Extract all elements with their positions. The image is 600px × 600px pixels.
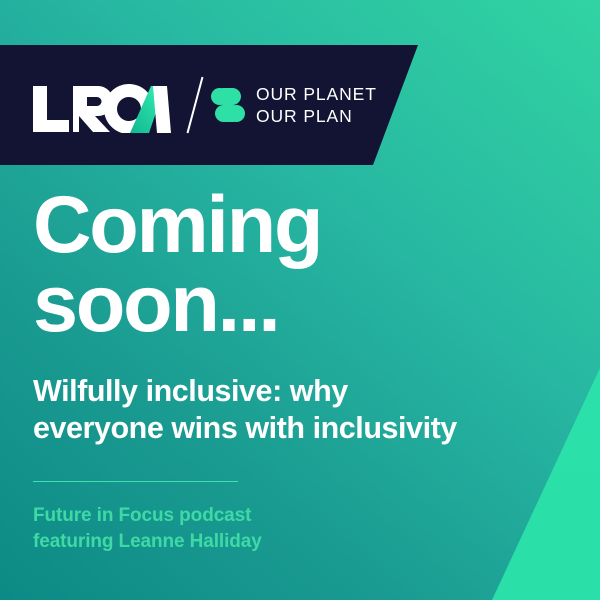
podcast-credit: Future in Focus podcast featuring Leanne… xyxy=(33,503,560,554)
lrqa-logo[interactable] xyxy=(31,77,171,133)
divider-rule xyxy=(33,481,238,483)
opop-line-2: OUR PLAN xyxy=(256,105,377,127)
logo-banner: OUR PLANET OUR PLAN xyxy=(0,45,420,165)
opop-line-1: OUR PLANET xyxy=(256,83,377,105)
logo-row: OUR PLANET OUR PLAN xyxy=(31,45,377,165)
promo-card: OUR PLANET OUR PLAN Coming soon... Wilfu… xyxy=(0,0,600,600)
episode-title: Wilfully inclusive: why everyone wins wi… xyxy=(33,373,560,447)
logo-separator-slash xyxy=(181,74,207,136)
opop-text-block: OUR PLANET OUR PLAN xyxy=(256,83,377,128)
clover-four-circle-icon xyxy=(211,88,245,122)
content-block: Coming soon... Wilfully inclusive: why e… xyxy=(33,186,560,554)
our-planet-our-plan-lockup[interactable]: OUR PLANET OUR PLAN xyxy=(211,83,377,128)
headline: Coming soon... xyxy=(33,186,560,343)
